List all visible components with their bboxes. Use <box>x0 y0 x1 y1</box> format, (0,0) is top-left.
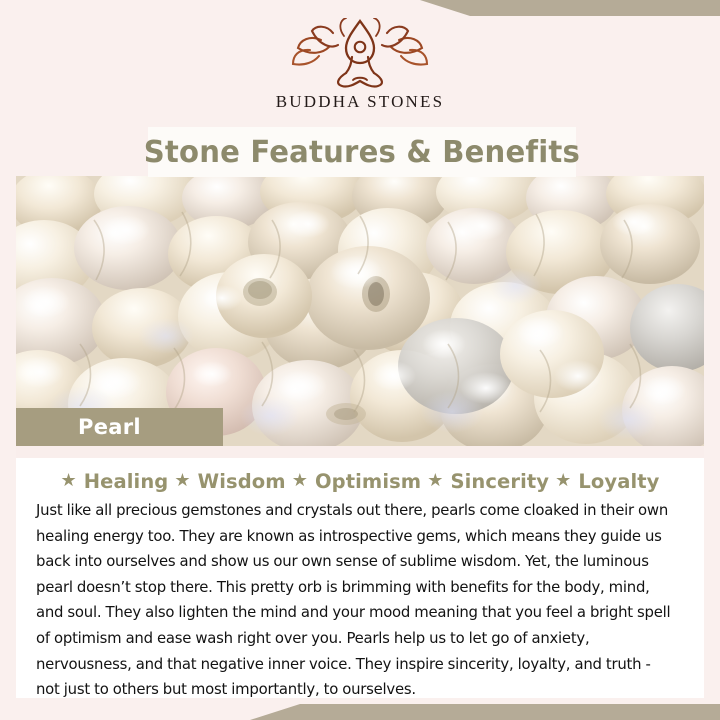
benefit-label-loyalty: Loyalty <box>578 470 659 493</box>
star-icon: ★ <box>292 472 308 490</box>
content-card: ★Healing ★Wisdom ★Optimism ★Sincerity ★L… <box>16 458 704 698</box>
content-top-strip <box>16 446 704 458</box>
poster-frame: BUDDHA STONES Stone Features & Benefits <box>0 0 720 720</box>
brand-wordmark: BUDDHA STONES <box>276 92 445 112</box>
benefit-item-optimism: ★Optimism <box>286 470 422 493</box>
star-icon: ★ <box>174 472 190 490</box>
star-icon: ★ <box>555 472 571 490</box>
stone-photo <box>16 176 704 446</box>
benefit-item-loyalty: ★Loyalty <box>549 470 659 493</box>
benefits-list: ★Healing ★Wisdom ★Optimism ★Sincerity ★L… <box>36 466 684 496</box>
lotus-meditation-logo-icon <box>290 18 430 88</box>
page-title: Stone Features & Benefits <box>144 135 580 170</box>
brand-header: BUDDHA STONES <box>0 0 720 128</box>
section-title-banner: Stone Features & Benefits <box>148 127 576 177</box>
stone-name: Pearl <box>78 415 141 439</box>
benefit-item-sincerity: ★Sincerity <box>421 470 549 493</box>
benefit-label-healing: Healing <box>84 470 169 493</box>
benefit-label-wisdom: Wisdom <box>198 470 286 493</box>
star-icon: ★ <box>427 472 443 490</box>
stone-name-band: Pearl <box>16 408 223 446</box>
benefit-item-wisdom: ★Wisdom <box>168 470 285 493</box>
benefit-label-optimism: Optimism <box>315 470 421 493</box>
benefit-label-sincerity: Sincerity <box>450 470 549 493</box>
benefit-item-healing: ★Healing <box>61 470 169 493</box>
star-icon: ★ <box>61 472 77 490</box>
stone-description: Just like all precious gemstones and cry… <box>36 498 674 703</box>
